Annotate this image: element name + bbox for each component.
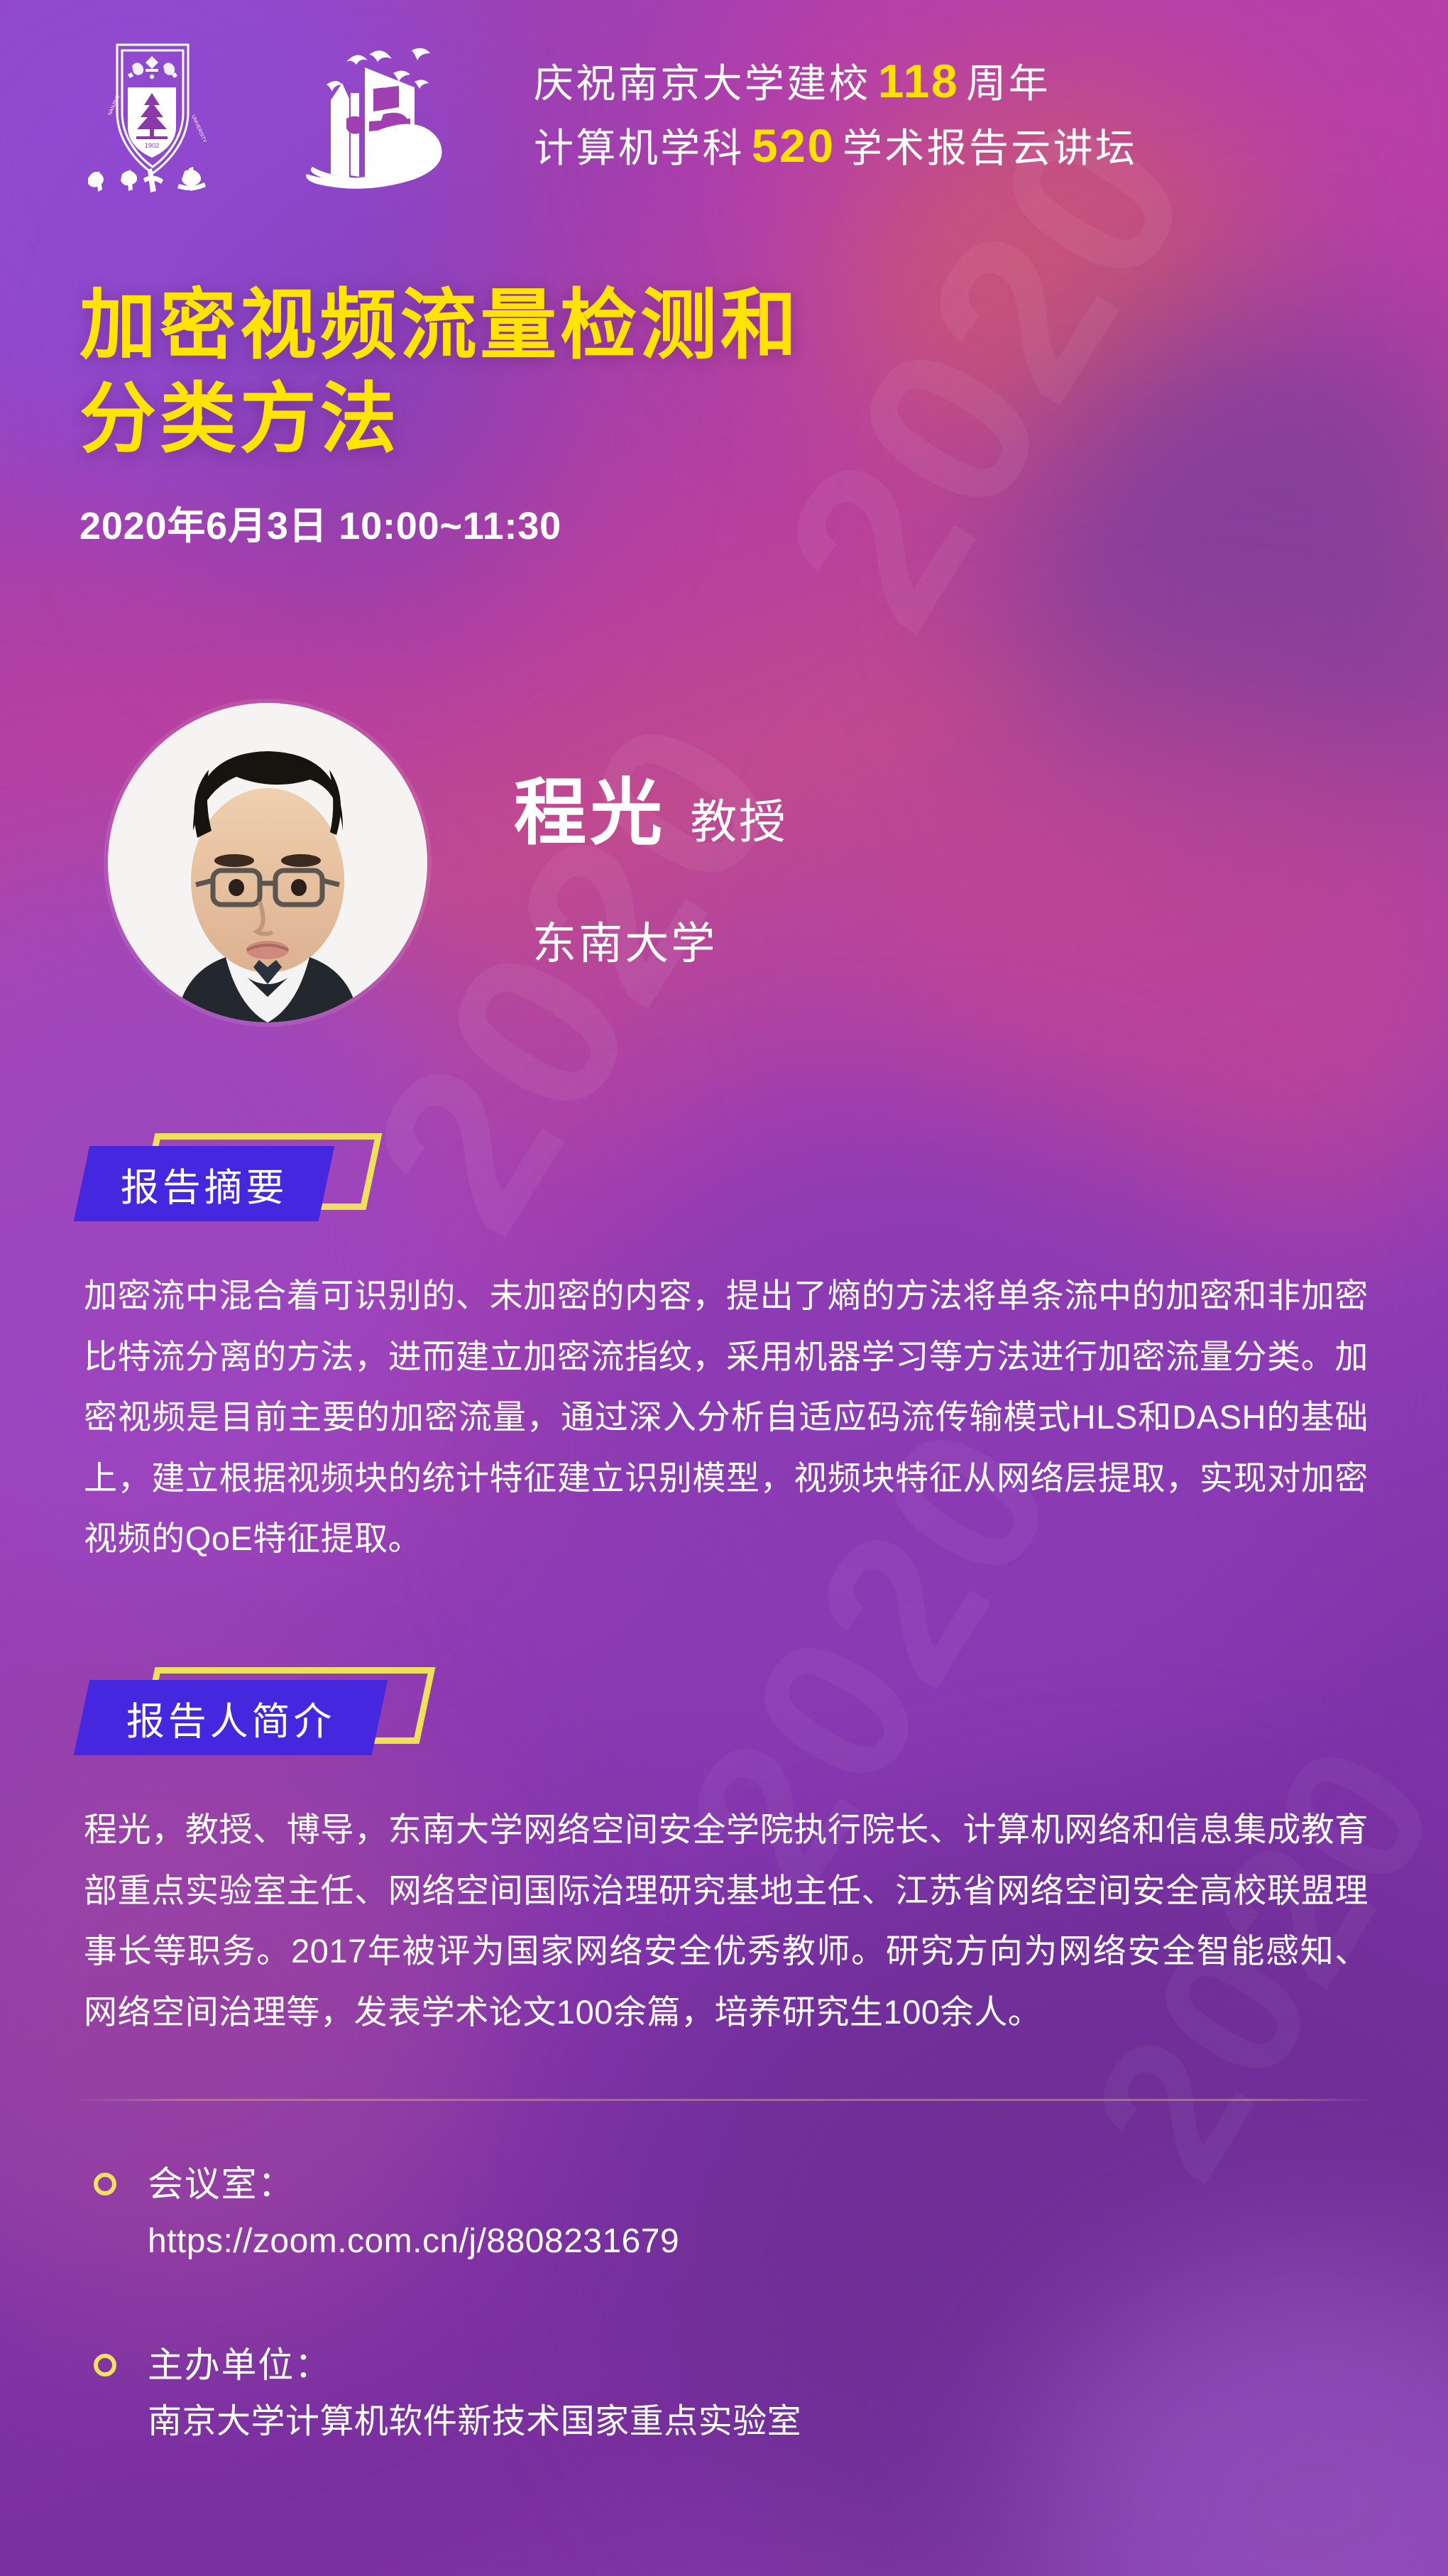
nanjing-university-seal-icon: 1902 NANJING UNIVERSITY xyxy=(78,32,227,195)
computer-science-department-logo-icon xyxy=(285,25,463,202)
badge-fill-shape: 报告摘要 xyxy=(74,1146,335,1221)
header-title-block: 庆祝南京大学建校118周年 计算机学科520学术报告云讲坛 xyxy=(534,49,1137,178)
bio-section: 报告人简介 程光，教授、博导，东南大学网络空间安全学院执行院长、计算机网络和信息… xyxy=(0,1667,1448,2042)
bio-badge: 报告人简介 xyxy=(82,1667,451,1754)
organizer-item: 主办单位： 南京大学计算机软件新技术国家重点实验室 xyxy=(94,2340,1448,2448)
page-title-line-2: 分类方法 xyxy=(79,372,1286,466)
speaker-title: 教授 xyxy=(690,784,787,852)
meeting-room-url[interactable]: https://zoom.com.cn/j/8808231679 xyxy=(148,2216,679,2267)
header-line-1: 庆祝南京大学建校118周年 xyxy=(534,49,1137,114)
meeting-room-item: 会议室： https://zoom.com.cn/j/8808231679 xyxy=(94,2159,1448,2267)
speaker-organization: 东南大学 xyxy=(532,907,787,971)
page-title-line-1: 加密视频流量检测和 xyxy=(79,278,1286,372)
series-number: 520 xyxy=(745,119,843,172)
header-line1-suffix: 周年 xyxy=(966,61,1051,106)
poster-header: 1902 NANJING UNIVERSITY xyxy=(0,0,1448,227)
svg-text:UNIVERSITY: UNIVERSITY xyxy=(190,114,207,144)
speaker-info: 程光 教授 东南大学 xyxy=(514,755,787,971)
svg-text:NANJING: NANJING xyxy=(107,94,121,116)
footer-divider xyxy=(79,2099,1369,2101)
bio-badge-label: 报告人简介 xyxy=(126,1690,335,1746)
poster-footer: 会议室： https://zoom.com.cn/j/8808231679 主办… xyxy=(0,2159,1448,2447)
abstract-text: 加密流中混合着可识别的、未加密的内容，提出了熵的方法将单条流中的加密和非加密比特… xyxy=(84,1265,1369,1569)
bullet-ring-icon xyxy=(94,2173,116,2195)
organizer-label: 主办单位： xyxy=(148,2340,801,2391)
speaker-block: 程光 教授 东南大学 xyxy=(108,703,787,1022)
header-line1-prefix: 庆祝南京大学建校 xyxy=(534,61,871,106)
header-line2-prefix: 计算机学科 xyxy=(534,126,745,170)
speaker-name: 程光 xyxy=(514,755,666,859)
organizer-value: 南京大学计算机软件新技术国家重点实验室 xyxy=(148,2396,801,2447)
meeting-room-label: 会议室： xyxy=(148,2159,679,2210)
header-line-2: 计算机学科520学术报告云讲坛 xyxy=(534,114,1137,178)
header-line2-suffix: 学术报告云讲坛 xyxy=(843,126,1138,170)
badge-fill-shape: 报告人简介 xyxy=(74,1680,388,1755)
anniversary-number: 118 xyxy=(871,55,966,107)
abstract-badge-label: 报告摘要 xyxy=(121,1156,287,1212)
svg-text:1902: 1902 xyxy=(145,142,159,149)
title-block: 加密视频流量检测和 分类方法 2020年6月3日 10:00~11:30 xyxy=(79,278,1286,550)
bio-text: 程光，教授、博导，东南大学网络空间安全学院执行院长、计算机网络和信息集成教育部重… xyxy=(84,1799,1369,2042)
avatar xyxy=(108,703,427,1022)
abstract-section: 报告摘要 加密流中混合着可识别的、未加密的内容，提出了熵的方法将单条流中的加密和… xyxy=(0,1133,1448,1569)
abstract-badge: 报告摘要 xyxy=(82,1133,451,1220)
bullet-ring-icon xyxy=(94,2354,116,2376)
poster-root: 2020 2020 2020 2020 xyxy=(0,0,1448,2576)
event-datetime: 2020年6月3日 10:00~11:30 xyxy=(79,494,1286,550)
